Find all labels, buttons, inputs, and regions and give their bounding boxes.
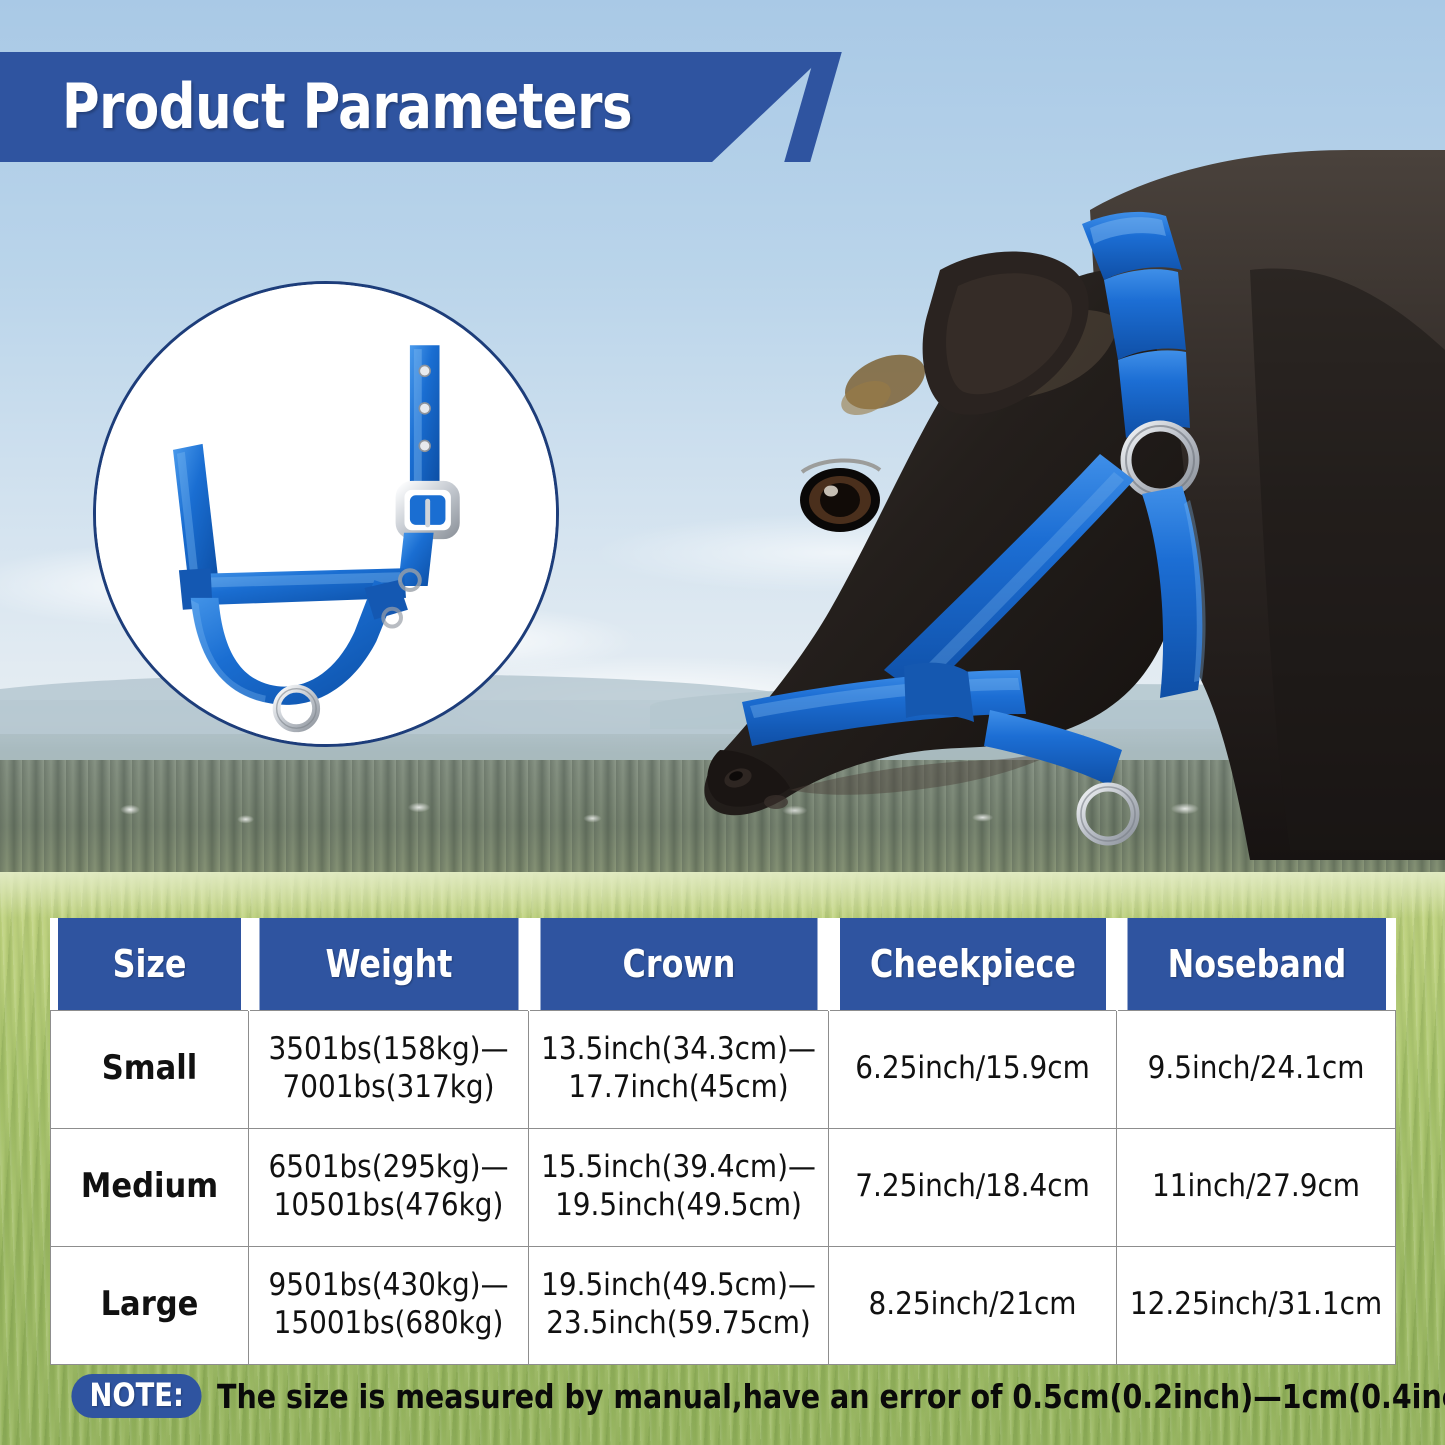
cell-crown: 13.5inch(34.3cm)— 17.7inch(45cm) <box>529 1010 829 1128</box>
size-specification-table: Size Weight Crown Cheekpiece Noseband Sm… <box>50 918 1396 1365</box>
cell-crown: 15.5inch(39.4cm)— 19.5inch(49.5cm) <box>529 1128 829 1246</box>
product-image-circle <box>93 281 559 747</box>
cell-size: Small <box>51 1010 249 1128</box>
table-header-row: Size Weight Crown Cheekpiece Noseband <box>51 918 1396 1010</box>
column-header-noseband: Noseband <box>1126 918 1385 1010</box>
page-title: Product Parameters <box>62 76 632 138</box>
cell-crown: 19.5inch(49.5cm)— 23.5inch(59.75cm) <box>529 1246 829 1364</box>
cell-cheekpiece: 6.25inch/15.9cm <box>829 1010 1117 1128</box>
grass-haze <box>0 872 1445 918</box>
cell-noseband: 9.5inch/24.1cm <box>1117 1010 1396 1128</box>
note-text: The size is measured by manual,have an e… <box>217 1380 1445 1413</box>
cell-noseband: 11inch/27.9cm <box>1117 1128 1396 1246</box>
note-badge: NOTE: <box>71 1374 202 1418</box>
table-row: Large 9501bs(430kg)— 15001bs(680kg) 19.5… <box>51 1246 1396 1364</box>
cell-noseband: 12.25inch/31.1cm <box>1117 1246 1396 1364</box>
calf-photo <box>690 150 1445 860</box>
page-header-banner: Product Parameters <box>0 52 828 162</box>
column-header-size: Size <box>57 918 241 1010</box>
cell-cheekpiece: 7.25inch/18.4cm <box>829 1128 1117 1246</box>
cell-size: Large <box>51 1246 249 1364</box>
column-header-weight: Weight <box>258 918 518 1010</box>
note-bar: NOTE: The size is measured by manual,hav… <box>68 1371 1398 1421</box>
cell-weight: 6501bs(295kg)— 10501bs(476kg) <box>249 1128 529 1246</box>
table-row: Small 3501bs(158kg)— 7001bs(317kg) 13.5i… <box>51 1010 1396 1128</box>
cell-weight: 9501bs(430kg)— 15001bs(680kg) <box>249 1246 529 1364</box>
column-header-cheekpiece: Cheekpiece <box>839 918 1107 1010</box>
column-header-crown: Crown <box>539 918 818 1010</box>
cell-weight: 3501bs(158kg)— 7001bs(317kg) <box>249 1010 529 1128</box>
cell-cheekpiece: 8.25inch/21cm <box>829 1246 1117 1364</box>
cell-size: Medium <box>51 1128 249 1246</box>
table-row: Medium 6501bs(295kg)— 10501bs(476kg) 15.… <box>51 1128 1396 1246</box>
